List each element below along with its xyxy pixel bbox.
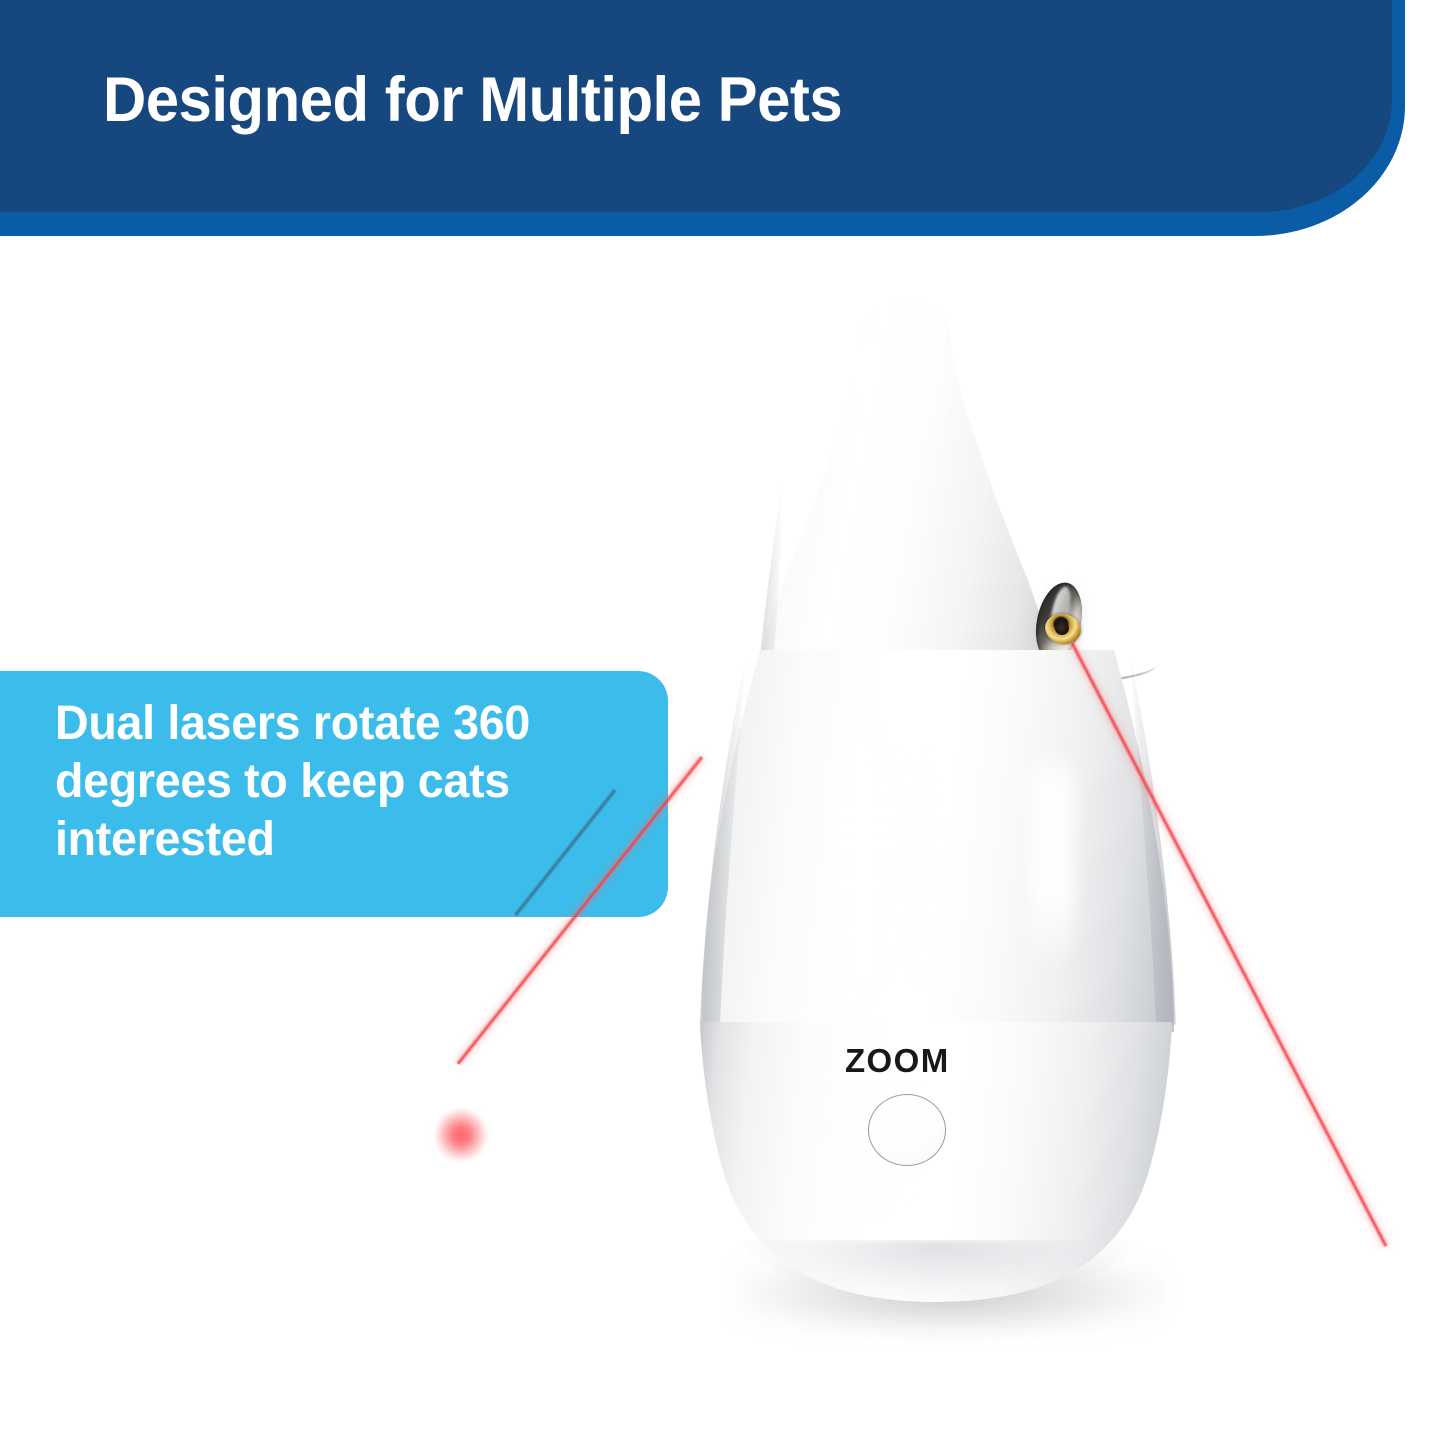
- laser-beam-left: [456, 755, 705, 1066]
- laser-beam-right: [1069, 642, 1388, 1248]
- laser-beam-left-over-callout: [513, 788, 617, 917]
- laser-dot-left: [436, 1110, 486, 1160]
- laser-beams: [0, 0, 1445, 1445]
